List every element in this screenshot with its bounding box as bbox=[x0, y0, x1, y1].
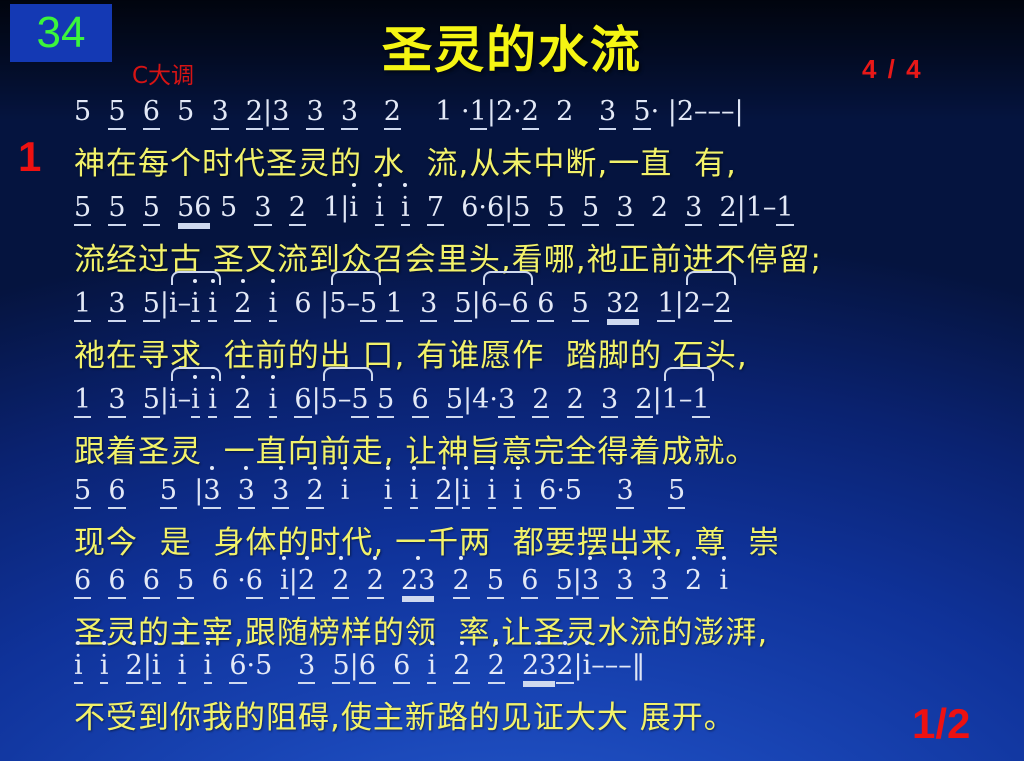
time-signature-label: 4 / 4 bbox=[862, 54, 923, 85]
note: 2 bbox=[635, 384, 652, 418]
note: 6 bbox=[143, 96, 160, 130]
note: 2 bbox=[298, 565, 315, 599]
note: i bbox=[178, 650, 187, 684]
notation-row-6: 6 6 6 5 6 ·6 i|2 2 2 23 2 5 6 5|3 3 3 2 … bbox=[74, 565, 1012, 611]
barline: | bbox=[675, 288, 684, 319]
note: i bbox=[341, 475, 350, 506]
note: i bbox=[401, 192, 410, 226]
note: 5 bbox=[177, 565, 194, 599]
score-line-7: i i 2|i i i 6·5 3 5|6 6 i 2 2 232|i–––‖ … bbox=[74, 650, 1012, 737]
note: 1 bbox=[74, 384, 91, 418]
note: 1 bbox=[776, 192, 793, 226]
note: 5 bbox=[74, 192, 91, 226]
note: 1 bbox=[662, 384, 679, 415]
note: 4 bbox=[472, 384, 489, 415]
note: 6 bbox=[521, 565, 538, 599]
note: 5 bbox=[360, 288, 377, 322]
key-signature-label: C大调 bbox=[132, 56, 194, 90]
barline: | bbox=[143, 650, 152, 681]
note: 5 bbox=[143, 288, 160, 322]
barline: | bbox=[463, 384, 472, 415]
note: 2 bbox=[435, 475, 452, 509]
note: 56 bbox=[177, 192, 211, 223]
note: i bbox=[462, 475, 471, 509]
note: 6 bbox=[487, 192, 504, 226]
note: 3 bbox=[272, 96, 289, 130]
score-line-1: 5 5 6 5 3 2|3 3 3 2 1 ·1|2·2 2 3 5· |2––… bbox=[74, 96, 1012, 183]
note: 6 bbox=[412, 384, 429, 418]
note: i bbox=[410, 475, 419, 509]
note: 2 bbox=[651, 192, 668, 223]
lyric-row-5: 现今 是 身体的时代, 一千两 都要摆出来, 尊 崇 bbox=[74, 517, 1012, 562]
note: 5 bbox=[513, 192, 530, 226]
barline: | bbox=[504, 192, 513, 223]
note: 1 bbox=[386, 288, 403, 322]
note: 23 bbox=[522, 650, 556, 681]
note: 2 bbox=[332, 565, 349, 599]
barline: | bbox=[289, 565, 298, 596]
note: 5 bbox=[582, 192, 599, 226]
note: 7 bbox=[427, 192, 444, 226]
note: 3 bbox=[651, 565, 668, 599]
barline: | bbox=[312, 384, 321, 415]
note: 6 bbox=[294, 384, 311, 418]
note: 6 bbox=[511, 288, 528, 322]
note: i bbox=[169, 288, 178, 319]
score-line-2: 5 5 5 56 5 3 2 1|i i i 7 6·6|5 5 5 3 2 3… bbox=[74, 192, 1012, 279]
note: 5 bbox=[332, 650, 349, 684]
note: 2 bbox=[714, 288, 731, 322]
note: 5 bbox=[255, 650, 272, 681]
note: 3 bbox=[341, 96, 358, 130]
tie-arc bbox=[323, 367, 373, 381]
note: 5 bbox=[454, 288, 471, 322]
note: 5 bbox=[351, 384, 368, 418]
hymn-slide: 34 圣灵的水流 C大调 4 / 4 1 5 5 6 5 3 2|3 3 3 2… bbox=[0, 0, 1024, 761]
note: i bbox=[427, 650, 436, 684]
note: 5 bbox=[487, 565, 504, 599]
barline: | bbox=[668, 96, 677, 127]
notation-row-4: 1 3 5|i–i i 2 i 6|5–5 5 6 5|4·3 2 2 3 2|… bbox=[74, 384, 1012, 430]
note: 2 bbox=[289, 192, 306, 226]
note: 3 bbox=[685, 192, 702, 226]
note: 6 bbox=[461, 192, 478, 223]
note: i bbox=[191, 288, 200, 322]
note: 2 bbox=[488, 650, 505, 684]
note: 2 bbox=[234, 384, 251, 418]
barline: | bbox=[653, 384, 662, 415]
note: 5 bbox=[548, 192, 565, 226]
lyric-row-7: 不受到你我的阻碍,使主新路的见证大大 展开。 bbox=[74, 692, 1012, 737]
note: 3 bbox=[616, 565, 633, 599]
tie-arc bbox=[686, 271, 736, 285]
notation-row-5: 5 6 5 |3 3 3 2 i i i 2|i i i 6·5 3 5 bbox=[74, 475, 1012, 521]
note: 1 bbox=[470, 96, 487, 130]
note: 1 bbox=[323, 192, 340, 223]
note: 2 bbox=[719, 192, 736, 226]
note: 5 bbox=[220, 192, 237, 223]
note: 2 bbox=[234, 288, 251, 322]
note: 5 bbox=[565, 475, 582, 506]
note: 3 bbox=[599, 96, 616, 130]
note: i bbox=[208, 288, 217, 322]
note: 3 bbox=[420, 288, 437, 322]
note: i bbox=[74, 650, 83, 684]
barline: | bbox=[194, 475, 203, 506]
note: 1 bbox=[746, 192, 763, 223]
note: 6 bbox=[294, 288, 311, 319]
notation-row-7: i i 2|i i i 6·5 3 5|6 6 i 2 2 232|i–––‖ bbox=[74, 650, 1012, 696]
note: 1 bbox=[435, 96, 452, 127]
lyric-row-4: 跟着圣灵 一直向前走, 让神旨意完全得着成就。 bbox=[74, 426, 1012, 471]
note: 3 bbox=[616, 192, 633, 226]
note: i bbox=[152, 650, 161, 684]
note: 3 bbox=[498, 384, 515, 418]
note: 3 bbox=[306, 96, 323, 130]
note: 6 bbox=[359, 650, 376, 684]
note: 3 bbox=[272, 475, 289, 509]
note: 6 bbox=[211, 565, 228, 596]
note: i bbox=[100, 650, 109, 684]
barline: | bbox=[340, 192, 349, 223]
barline: | bbox=[472, 288, 481, 319]
note: 2 bbox=[496, 96, 513, 127]
barline: | bbox=[263, 96, 272, 127]
note: 2 bbox=[567, 384, 584, 418]
note: 3 bbox=[601, 384, 618, 418]
score-line-6: 6 6 6 5 6 ·6 i|2 2 2 23 2 5 6 5|3 3 3 2 … bbox=[74, 565, 1012, 652]
barline: | bbox=[453, 475, 462, 506]
note: 5 bbox=[143, 192, 160, 226]
note: 6 bbox=[143, 565, 160, 599]
note: 32 bbox=[606, 288, 640, 319]
note: 5 bbox=[177, 96, 194, 127]
note: 2 bbox=[532, 384, 549, 418]
score-line-5: 5 6 5 |3 3 3 2 i i i 2|i i i 6·5 3 5 现今 … bbox=[74, 475, 1012, 562]
note: i bbox=[191, 384, 200, 418]
note: 3 bbox=[616, 475, 633, 509]
note: 2 bbox=[126, 650, 143, 684]
note: 6 bbox=[108, 475, 125, 509]
tie-arc bbox=[331, 271, 381, 285]
lyric-row-1: 神在每个时代圣灵的 水 流,从未中断,一直 有, bbox=[74, 138, 1012, 183]
note: 2 bbox=[453, 565, 470, 599]
notation-row-3: 1 3 5|i–i i 2 i 6 |5–5 1 3 5|6–6 6 5 32 … bbox=[74, 288, 1012, 334]
note: 5 bbox=[446, 384, 463, 418]
note: 6 bbox=[229, 650, 246, 684]
note: i bbox=[269, 384, 278, 418]
note: 2 bbox=[685, 565, 702, 596]
note: 3 bbox=[211, 96, 228, 130]
note: 6 bbox=[393, 650, 410, 684]
barline: | bbox=[735, 96, 744, 127]
note: 6 bbox=[108, 565, 125, 599]
note: 3 bbox=[203, 475, 220, 509]
barline: | bbox=[350, 650, 359, 681]
note: 3 bbox=[582, 565, 599, 599]
note: 2 bbox=[556, 96, 573, 127]
note: 1 bbox=[692, 384, 709, 418]
tie-arc bbox=[483, 271, 533, 285]
tie-arc bbox=[664, 367, 714, 381]
note: i bbox=[204, 650, 213, 684]
page-indicator: 1/2 bbox=[912, 700, 970, 748]
barline: | bbox=[160, 288, 169, 319]
note: 2 bbox=[246, 96, 263, 130]
note: 6 bbox=[74, 565, 91, 599]
note: 2 bbox=[384, 96, 401, 130]
note: 2 bbox=[367, 565, 384, 599]
note: 5 bbox=[329, 288, 346, 319]
barline: | bbox=[160, 384, 169, 415]
note: 5 bbox=[377, 384, 394, 418]
note: 5 bbox=[556, 565, 573, 599]
note: i bbox=[269, 288, 278, 322]
note: i bbox=[583, 650, 592, 681]
note: 5 bbox=[668, 475, 685, 509]
note: 3 bbox=[108, 288, 125, 322]
note: 5 bbox=[572, 288, 589, 322]
score-line-4: 1 3 5|i–i i 2 i 6|5–5 5 6 5|4·3 2 2 3 2|… bbox=[74, 384, 1012, 471]
note: i bbox=[384, 475, 393, 509]
note: 2 bbox=[677, 96, 694, 127]
notation-row-1: 5 5 6 5 3 2|3 3 3 2 1 ·1|2·2 2 3 5· |2––… bbox=[74, 96, 1012, 142]
note: 3 bbox=[238, 475, 255, 509]
barline: | bbox=[737, 192, 746, 223]
verse-number: 1 bbox=[18, 133, 41, 181]
note: i bbox=[208, 384, 217, 418]
note: 2 bbox=[453, 650, 470, 684]
score-line-3: 1 3 5|i–i i 2 i 6 |5–5 1 3 5|6–6 6 5 32 … bbox=[74, 288, 1012, 375]
note: 5 bbox=[108, 96, 125, 130]
note: 5 bbox=[160, 475, 177, 509]
barline: | bbox=[487, 96, 496, 127]
note: i bbox=[513, 475, 522, 509]
note: 2 bbox=[306, 475, 323, 509]
lyric-row-6: 圣灵的主宰,跟随榜样的领 率,让圣灵水流的澎湃, bbox=[74, 607, 1012, 652]
note: 2 bbox=[684, 288, 701, 319]
note: 1 bbox=[657, 288, 674, 322]
note: 23 bbox=[401, 565, 435, 596]
note: 6 bbox=[537, 288, 554, 322]
note: i bbox=[719, 565, 728, 596]
note: 6 bbox=[481, 288, 498, 319]
barline: | bbox=[320, 288, 329, 319]
final-barline: ‖ bbox=[632, 650, 646, 681]
note: 3 bbox=[298, 650, 315, 684]
barline: | bbox=[573, 565, 582, 596]
note: 5 bbox=[321, 384, 338, 415]
note: 5 bbox=[74, 475, 91, 509]
note: i bbox=[349, 192, 358, 223]
notation-row-2: 5 5 5 56 5 3 2 1|i i i 7 6·6|5 5 5 3 2 3… bbox=[74, 192, 1012, 238]
note: 6 bbox=[246, 565, 263, 599]
note: i bbox=[488, 475, 497, 509]
note: 6 bbox=[539, 475, 556, 509]
note: 2 bbox=[522, 96, 539, 130]
note: 5 bbox=[633, 96, 650, 130]
note: 5 bbox=[108, 192, 125, 226]
note: 2 bbox=[556, 650, 573, 684]
note: 5 bbox=[74, 96, 91, 127]
note: i bbox=[375, 192, 384, 226]
note: 1 bbox=[74, 288, 91, 322]
barline: | bbox=[574, 650, 583, 681]
note: 5 bbox=[143, 384, 160, 418]
note: i bbox=[169, 384, 178, 415]
note: 3 bbox=[108, 384, 125, 418]
note: i bbox=[280, 565, 289, 599]
note: 3 bbox=[254, 192, 271, 226]
